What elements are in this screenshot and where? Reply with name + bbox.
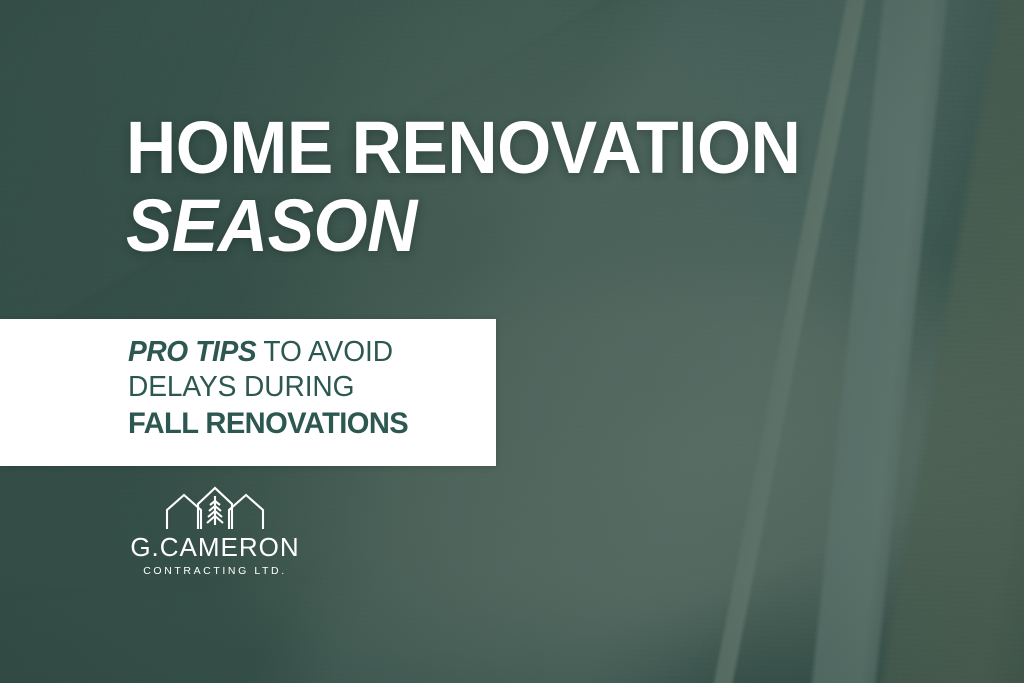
headline-line-2: SEASON [126, 189, 800, 263]
subheadline-emphasis: PRO TIPS [128, 336, 256, 368]
subheadline-line-1-rest: TO AVOID [256, 336, 393, 368]
subheadline-line-2: DELAYS DURING [128, 370, 479, 405]
subheadline-line-1: PRO TIPS TO AVOID [128, 335, 479, 370]
subheadline-line-3: FALL RENOVATIONS [128, 406, 479, 443]
subheadline-text-block: PRO TIPS TO AVOID DELAYS DURING FALL REN… [128, 335, 490, 442]
logo-wordmark: G.CAMERON [85, 534, 345, 560]
promo-banner: HOME RENOVATION SEASON PRO TIPS TO AVOID… [0, 0, 1024, 683]
logo-tagline: CONTRACTING LTD. [85, 566, 345, 577]
headline-line-1: HOME RENOVATION [126, 112, 800, 183]
headline: HOME RENOVATION SEASON [126, 112, 843, 263]
brand-logo: G.CAMERON CONTRACTING LTD. [85, 484, 345, 577]
three-houses-with-pine-tree-icon [163, 484, 267, 530]
subheadline-panel: PRO TIPS TO AVOID DELAYS DURING FALL REN… [0, 319, 496, 466]
